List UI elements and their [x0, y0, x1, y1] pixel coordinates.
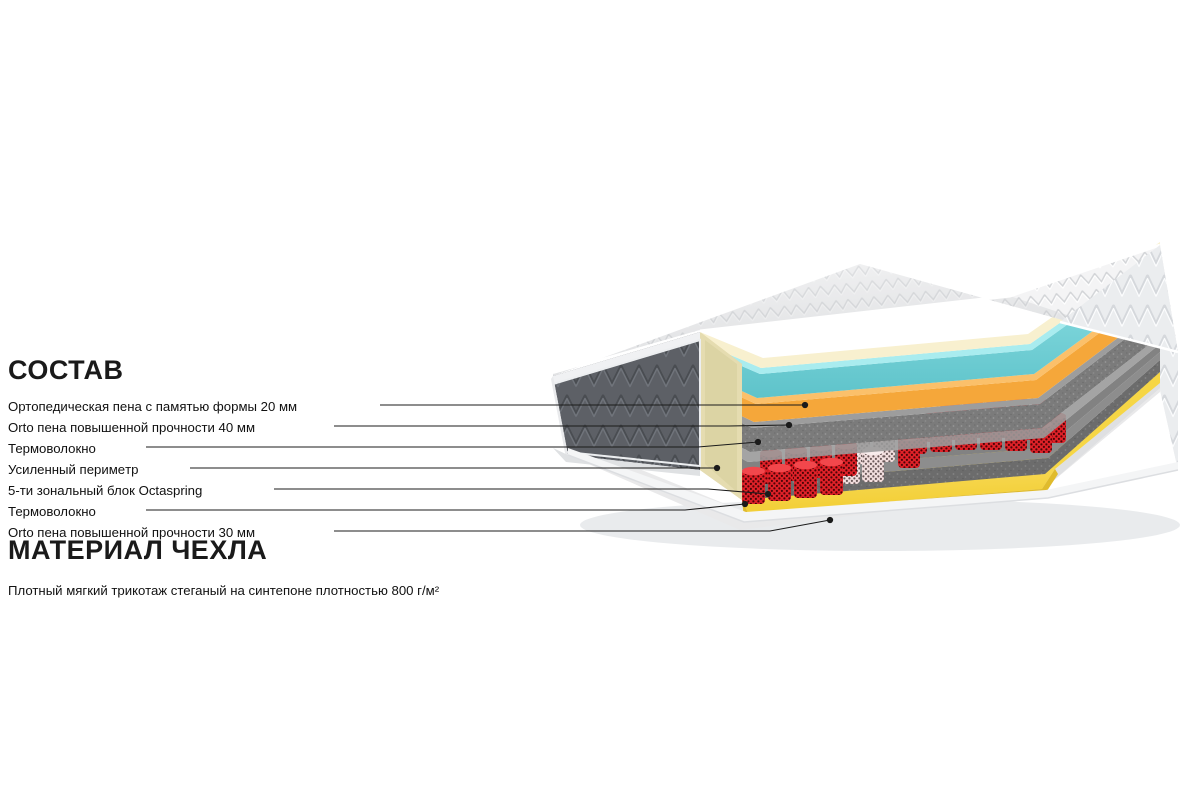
cover-material-description: Плотный мягкий трикотаж стеганый на синт… — [8, 582, 439, 600]
list-item: Orto пена повышенной прочности 40 мм — [8, 417, 528, 438]
list-item: Усиленный перимeтр — [8, 459, 528, 480]
illustration-page: СОСТАВ Ортопедическая пена с памятью фор… — [0, 0, 1191, 794]
cover-material-heading: МАТЕРИАЛ ЧЕХЛА — [8, 535, 267, 566]
list-item: Термоволокно — [8, 438, 528, 459]
list-item: Ортопедическая пена с памятью формы 20 м… — [8, 396, 528, 417]
composition-list: Ортопедическая пена с памятью формы 20 м… — [8, 396, 528, 543]
composition-heading: СОСТАВ — [8, 355, 123, 386]
list-item: Термоволокно — [8, 501, 528, 522]
list-item: 5-ти зональный блок Octaspring — [8, 480, 528, 501]
